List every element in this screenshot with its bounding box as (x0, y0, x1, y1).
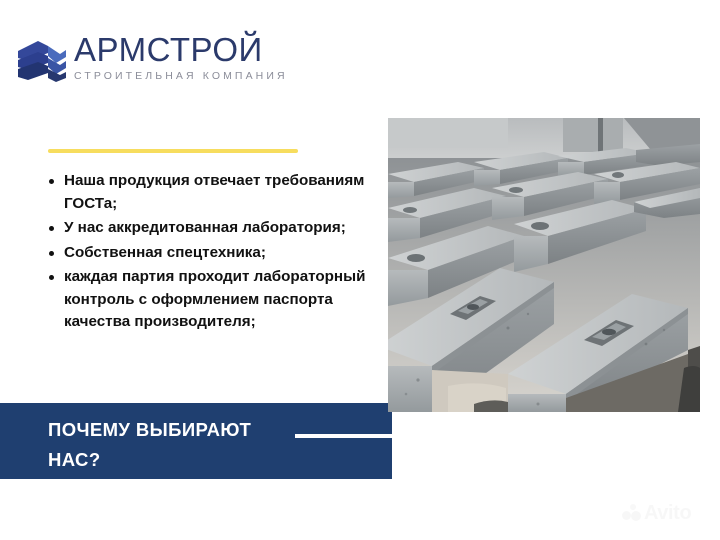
benefits-list: Наша продукция отвечает требованиям ГОСТ… (46, 170, 376, 336)
logo-tagline: СТРОИТЕЛЬНАЯ КОМПАНИЯ (74, 70, 288, 82)
building-blocks-logo-icon (16, 37, 68, 85)
avito-dots-icon (622, 504, 643, 522)
list-item: каждая партия проходит лабораторный конт… (46, 266, 376, 334)
list-item: Наша продукция отвечает требованиям ГОСТ… (46, 170, 376, 215)
list-item: Собственная спецтехника; (46, 242, 376, 265)
banner-divider (295, 434, 392, 438)
company-logo: АРМСТРОЙ СТРОИТЕЛЬНАЯ КОМПАНИЯ (16, 33, 288, 85)
logo-text-group: АРМСТРОЙ СТРОИТЕЛЬНАЯ КОМПАНИЯ (74, 33, 288, 82)
banner-title: ПОЧЕМУ ВЫБИРАЮТ НАС? (48, 415, 288, 475)
promo-slide: АРМСТРОЙ СТРОИТЕЛЬНАЯ КОМПАНИЯ Наша прод… (0, 0, 720, 540)
logo-wordmark: АРМСТРОЙ (74, 33, 288, 67)
accent-divider (48, 149, 298, 153)
list-item: У нас аккредитованная лаборатория; (46, 217, 376, 240)
avito-wordmark: Avito (644, 503, 691, 523)
headline-banner: ПОЧЕМУ ВЫБИРАЮТ НАС? (0, 403, 392, 479)
product-photo (388, 118, 700, 412)
avito-watermark: Avito (622, 500, 704, 526)
